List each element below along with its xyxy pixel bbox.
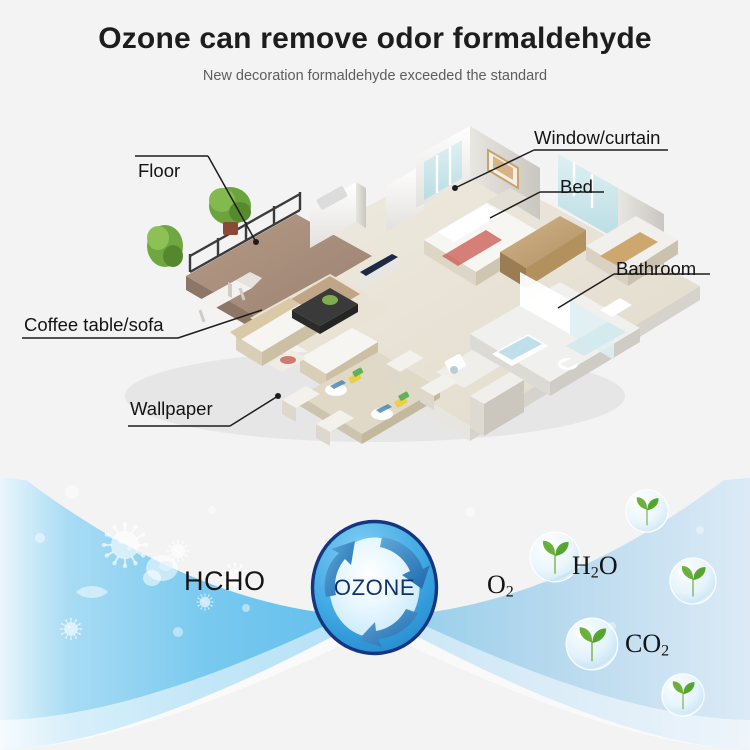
- page-title: Ozone can remove odor formaldehyde: [0, 0, 750, 56]
- floorplan-illustration: [0, 96, 750, 466]
- callout-bathroom: Bathroom: [616, 260, 696, 279]
- h2o-label: H2O: [572, 553, 618, 582]
- page-subtitle: New decoration formaldehyde exceeded the…: [0, 56, 750, 84]
- ozone-cycle-badge: OZONE: [310, 519, 439, 656]
- callout-wallpaper: Wallpaper: [130, 400, 213, 419]
- header: Ozone can remove odor formaldehyde New d…: [0, 0, 750, 84]
- plant: [147, 225, 183, 267]
- callout-window: Window/curtain: [534, 129, 660, 148]
- hcho-label: HCHO: [184, 568, 266, 595]
- infographic-canvas: Ozone can remove odor formaldehyde New d…: [0, 0, 750, 750]
- leaf-bubble-icon: [626, 490, 668, 532]
- callout-bed: Bed: [560, 178, 593, 197]
- co2-label: CO2: [625, 631, 669, 660]
- leaf-bubble-icon: [662, 674, 704, 716]
- callout-coffee-sofa: Coffee table/sofa: [24, 316, 164, 335]
- leaf-bubble-icon: [670, 558, 716, 604]
- o2-label: O2: [487, 572, 514, 601]
- callout-floor: Floor: [138, 162, 180, 181]
